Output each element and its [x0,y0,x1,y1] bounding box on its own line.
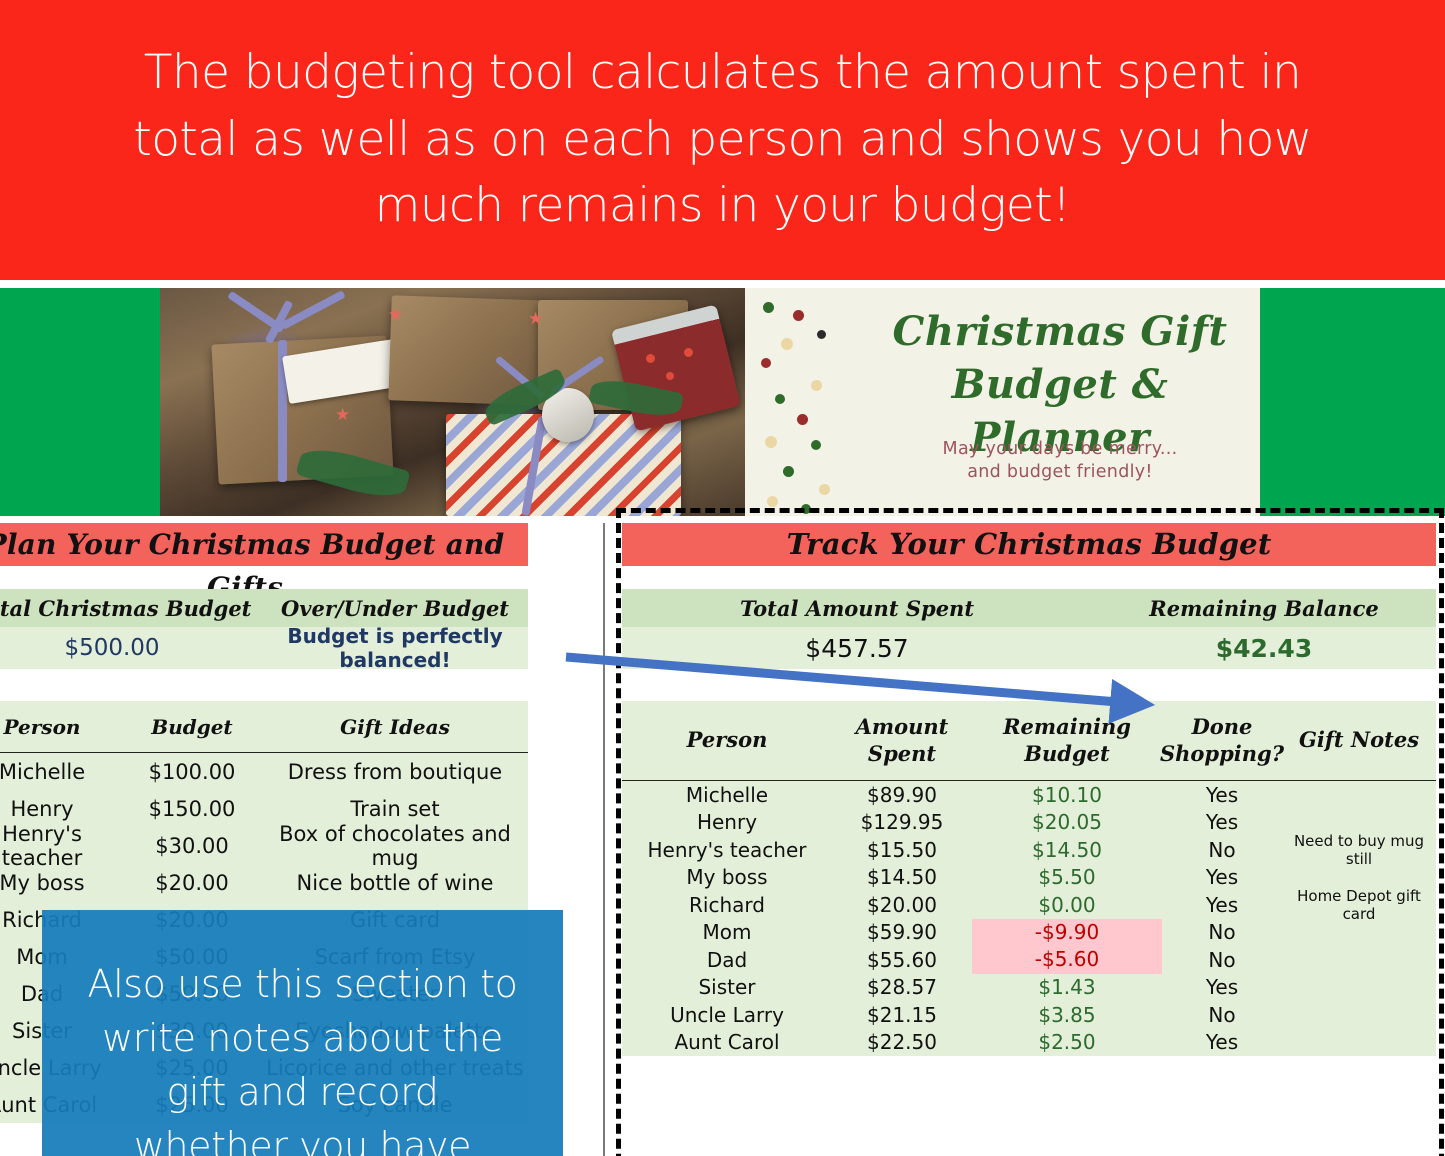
confetti-dot [781,338,793,350]
cell-amount-spent: $28.57 [832,975,972,999]
cell-remaining-budget: $2.50 [972,1030,1162,1054]
banner-title-area: Christmas Gift Budget & Planner May your… [745,288,1260,516]
over-under-value: Budget is perfectly balanced! [262,624,528,672]
confetti-dot [767,496,778,507]
plan-table-header-row: Person Budget Gift Ideas [0,701,528,753]
cell-remaining-budget: $1.43 [972,975,1162,999]
track-col-remain-l2: Budget [1024,741,1109,768]
confetti-dot [819,484,830,495]
caption-banner: The budgeting tool calculates the amount… [0,0,1445,280]
table-row[interactable]: Aunt Carol$22.50$2.50Yes [622,1029,1436,1057]
remaining-balance-value: $42.43 [1092,634,1436,663]
track-budget-panel: Track Your Christmas Budget Total Amount… [618,523,1438,1078]
cell-remaining-budget: -$9.90 [972,919,1162,947]
left-summary-values: $500.00 Budget is perfectly balanced! [0,627,528,669]
track-col-done-l1: Done [1192,714,1253,741]
track-table: Person Amount Spent Remaining Budget Don… [622,701,1436,1056]
banner-card: ★ ★ ★ [160,288,1260,516]
plan-cell: $150.00 [122,797,262,821]
track-col-amount-spent: Amount Spent [832,714,972,768]
table-row[interactable]: Michelle$89.90$10.10Yes [622,781,1436,809]
cell-gift-notes: Need to buy mug still [1282,832,1436,868]
confetti-dot [765,436,777,448]
plan-table-row[interactable]: Henry's teacher$30.00Box of chocolates a… [0,827,528,864]
cell-remaining-budget: -$5.60 [972,946,1162,974]
cell-remaining-budget: $14.50 [972,838,1162,862]
track-table-body: Michelle$89.90$10.10YesHenry$129.95$20.0… [622,781,1436,1056]
cell-person: Sister [622,975,832,999]
track-col-person-l1: Person [687,727,768,754]
christmas-gifts-photo: ★ ★ ★ [160,288,745,516]
plan-cell: Michelle [0,760,122,784]
confetti-dot [811,380,822,391]
cell-person: Henry's teacher [622,838,832,862]
cell-done-shopping: No [1162,920,1282,944]
plan-cell: Nice bottle of wine [262,871,528,895]
cell-amount-spent: $89.90 [832,783,972,807]
cell-done-shopping: Yes [1162,1030,1282,1054]
total-spent-header: Total Amount Spent [622,596,1092,621]
cell-amount-spent: $59.90 [832,920,972,944]
confetti-dot [763,302,774,313]
plan-col-budget: Budget [122,715,262,739]
cell-person: Richard [622,893,832,917]
caption-text: The budgeting tool calculates the amount… [58,40,1388,240]
track-col-gift-notes: Gift Notes [1282,727,1436,754]
table-row[interactable]: Sister$28.57$1.43Yes [622,974,1436,1002]
cell-amount-spent: $20.00 [832,893,972,917]
over-under-header: Over/Under Budget [262,596,528,621]
track-col-remain-l1: Remaining [1003,714,1131,741]
track-col-notes-l1: Gift Notes [1299,727,1419,754]
cell-person: My boss [622,865,832,889]
slide-root: The budgeting tool calculates the amount… [0,0,1445,1156]
cell-person: Michelle [622,783,832,807]
remaining-balance-header: Remaining Balance [1092,596,1436,621]
plan-table-row[interactable]: Michelle$100.00Dress from boutique [0,753,528,790]
spreadsheet-region: ★ ★ ★ [0,280,1445,1156]
cell-person: Henry [622,810,832,834]
cell-remaining-budget: $10.10 [972,783,1162,807]
cell-amount-spent: $21.15 [832,1003,972,1027]
cell-person: Uncle Larry [622,1003,832,1027]
plan-cell: Train set [262,797,528,821]
banner-title-line1: Christmas Gift [865,306,1255,359]
confetti-dot [775,394,785,404]
total-budget-header: Total Christmas Budget [0,596,262,621]
table-row[interactable]: Henry's teacher$15.50$14.50NoNeed to buy… [622,836,1436,864]
annotation-callout-text: Also use this section to write notes abo… [58,958,548,1156]
cell-done-shopping: No [1162,1003,1282,1027]
cell-done-shopping: Yes [1162,865,1282,889]
confetti-dot [783,466,794,477]
total-spent-value: $457.57 [622,634,1092,663]
cell-done-shopping: Yes [1162,810,1282,834]
confetti-dot [797,414,808,425]
plan-cell: Dress from boutique [262,760,528,784]
cell-done-shopping: Yes [1162,975,1282,999]
cell-done-shopping: Yes [1162,893,1282,917]
plan-cell: Henry's teacher [0,822,122,870]
cell-amount-spent: $55.60 [832,948,972,972]
track-col-spent-l2: Spent [868,741,936,768]
cell-done-shopping: Yes [1162,783,1282,807]
confetti-dot [761,358,771,368]
track-col-person: Person [622,727,832,754]
confetti-dot [817,330,826,339]
right-panel-title: Track Your Christmas Budget [622,523,1436,566]
plan-cell: $100.00 [122,760,262,784]
cell-amount-spent: $22.50 [832,1030,972,1054]
cell-amount-spent: $15.50 [832,838,972,862]
total-budget-value[interactable]: $500.00 [0,635,262,661]
cell-person: Aunt Carol [622,1030,832,1054]
cell-remaining-budget: $5.50 [972,865,1162,889]
plan-cell: $30.00 [122,834,262,858]
right-summary-headers: Total Amount Spent Remaining Balance [622,589,1436,627]
track-col-remaining-budget: Remaining Budget [972,714,1162,768]
plan-col-person: Person [0,715,122,739]
cell-amount-spent: $14.50 [832,865,972,889]
right-summary-values: $457.57 $42.43 [622,627,1436,669]
track-col-done-shopping: Done Shopping? [1162,714,1282,768]
track-table-header-row: Person Amount Spent Remaining Budget Don… [622,701,1436,781]
plan-cell: My boss [0,871,122,895]
plan-cell: Henry [0,797,122,821]
table-row[interactable]: Richard$20.00$0.00YesHome Depot gift car… [622,891,1436,919]
plan-cell: Box of chocolates and mug [262,822,528,870]
cell-person: Dad [622,948,832,972]
table-row[interactable]: Uncle Larry$21.15$3.85No [622,1001,1436,1029]
plan-table-row[interactable]: My boss$20.00Nice bottle of wine [0,864,528,901]
plan-cell: $20.00 [122,871,262,895]
annotation-callout-box: Also use this section to write notes abo… [42,910,563,1156]
cell-gift-notes: Home Depot gift card [1282,887,1436,923]
confetti-dot [793,310,804,321]
panel-divider [603,523,605,1156]
confetti-dot [811,440,821,450]
cell-done-shopping: No [1162,948,1282,972]
left-summary-headers: Total Christmas Budget Over/Under Budget [0,589,528,627]
workbook-banner-row: ★ ★ ★ [0,288,1445,516]
plan-col-gift-ideas: Gift Ideas [262,715,528,739]
cell-remaining-budget: $20.05 [972,810,1162,834]
banner-subtitle: May your days be merry... and budget fri… [865,438,1255,484]
cell-remaining-budget: $0.00 [972,893,1162,917]
table-row[interactable]: Dad$55.60-$5.60No [622,946,1436,974]
track-col-spent-l1: Amount [856,714,949,741]
cell-amount-spent: $129.95 [832,810,972,834]
track-col-done-l2: Shopping? [1160,741,1284,768]
cell-remaining-budget: $3.85 [972,1003,1162,1027]
confetti-dot [801,504,811,514]
left-panel-title: Plan Your Christmas Budget and Gifts [0,523,528,566]
cell-person: Mom [622,920,832,944]
cell-done-shopping: No [1162,838,1282,862]
